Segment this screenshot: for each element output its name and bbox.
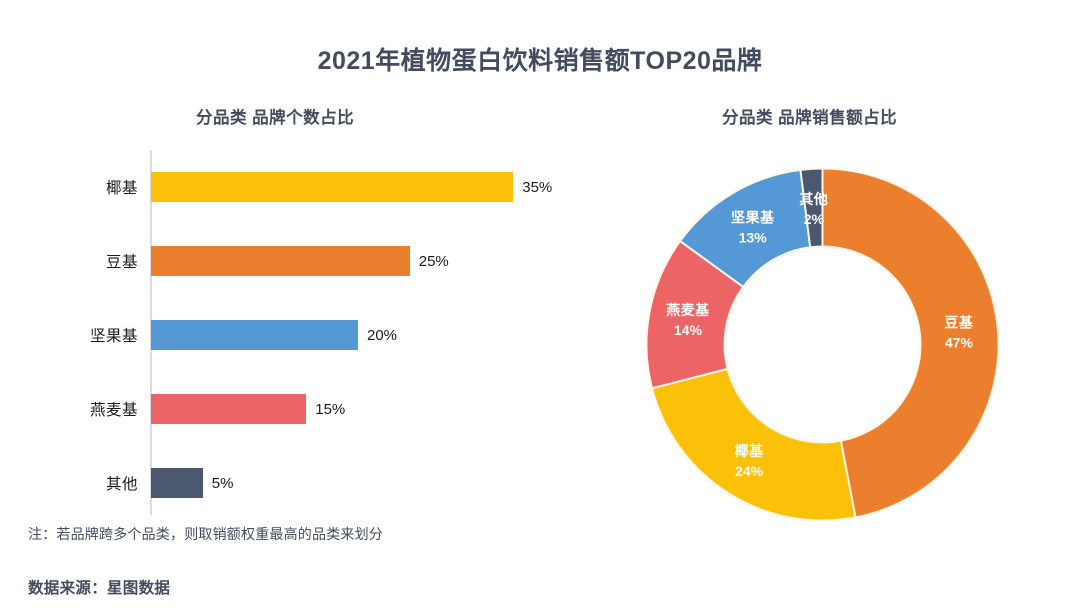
- page-title: 2021年植物蛋白饮料销售额TOP20品牌: [0, 41, 1080, 77]
- bar-value-label: 5%: [212, 475, 234, 492]
- donut-slice-value: 24%: [735, 463, 764, 479]
- bar-row: 椰基35%: [0, 150, 600, 224]
- bar-track: 20%: [151, 320, 397, 350]
- bar-value-label: 20%: [367, 327, 397, 344]
- bar-fill: [151, 394, 306, 424]
- bar-track: 25%: [151, 246, 449, 276]
- bar-fill: [151, 468, 203, 498]
- bar-category-label: 坚果基: [90, 324, 138, 346]
- donut-slice-label: 豆基: [944, 315, 974, 331]
- bar-value-label: 15%: [315, 401, 345, 418]
- bar-chart-subtitle: 分品类 品牌个数占比: [196, 104, 354, 128]
- bar-category-label: 豆基: [106, 250, 138, 272]
- bar-category-label: 燕麦基: [90, 398, 138, 420]
- bar-track: 5%: [151, 468, 233, 498]
- donut-slice-label: 坚果基: [731, 210, 775, 226]
- donut-slice-value: 14%: [674, 322, 703, 338]
- donut-slice-value: 13%: [739, 230, 768, 246]
- donut-chart: 豆基47%椰基24%燕麦基14%坚果基13%其他2%: [646, 168, 999, 521]
- donut-slice-label: 其他: [799, 191, 828, 207]
- bar-track: 15%: [151, 394, 345, 424]
- chart-note: 注：若品牌跨多个品类，则取销额权重最高的品类来划分: [28, 524, 383, 544]
- bar-row: 其他5%: [0, 446, 600, 520]
- bar-row: 豆基25%: [0, 224, 600, 298]
- bar-value-label: 25%: [419, 253, 449, 270]
- donut-chart-svg: 豆基47%椰基24%燕麦基14%坚果基13%其他2%: [646, 168, 999, 521]
- bar-fill: [151, 172, 513, 202]
- bar-row: 燕麦基15%: [0, 372, 600, 446]
- bar-category-label: 椰基: [106, 176, 138, 198]
- donut-slice-value: 2%: [804, 211, 825, 227]
- data-source: 数据来源：星图数据: [28, 576, 170, 598]
- bar-chart: 椰基35%豆基25%坚果基20%燕麦基15%其他5%: [0, 150, 600, 520]
- donut-slice-label: 椰基: [735, 443, 764, 459]
- bar-value-label: 35%: [522, 179, 552, 196]
- donut-slice-value: 47%: [945, 335, 974, 351]
- bar-row: 坚果基20%: [0, 298, 600, 372]
- donut-slice-label: 燕麦基: [666, 302, 710, 318]
- bar-category-label: 其他: [106, 472, 138, 494]
- donut-chart-subtitle: 分品类 品牌销售额占比: [722, 104, 897, 128]
- bar-fill: [151, 246, 410, 276]
- bar-track: 35%: [151, 172, 552, 202]
- bar-fill: [151, 320, 358, 350]
